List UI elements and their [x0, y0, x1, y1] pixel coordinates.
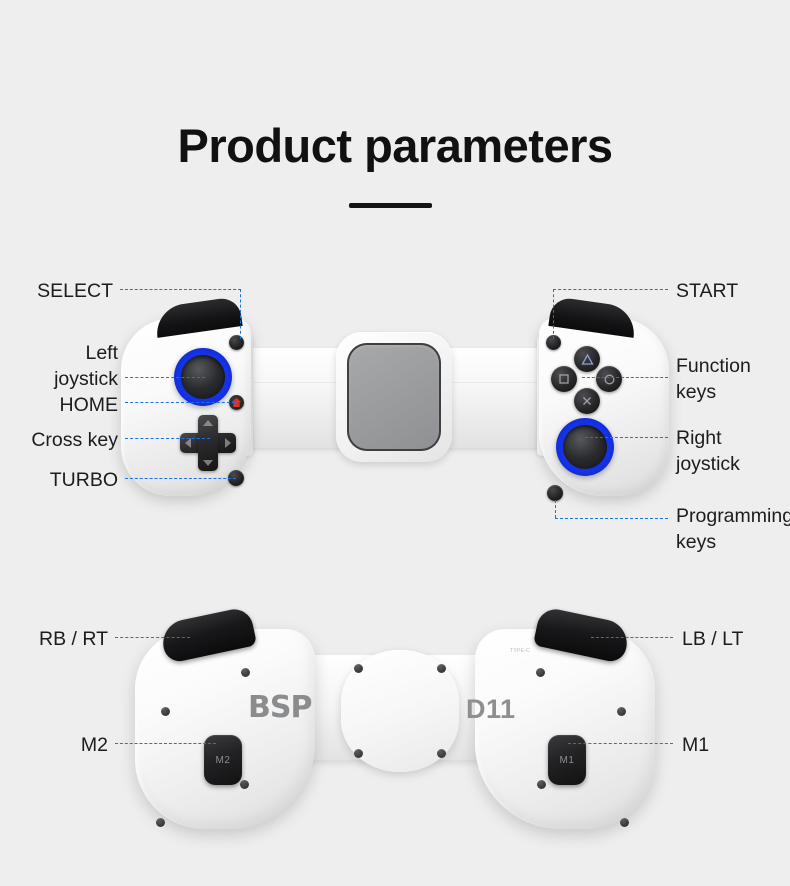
back-right-grip: [475, 629, 655, 829]
type-c-port-label: TYPE-C: [510, 648, 530, 654]
circle-button[interactable]: [596, 366, 622, 392]
leader-lb-lt: [591, 637, 673, 638]
back-screw-l1: [241, 668, 250, 677]
back-screw-r2: [617, 707, 626, 716]
label-m1: M1: [682, 732, 790, 758]
label-right-joystick: Right joystick: [676, 425, 790, 477]
label-m2: M2: [0, 732, 108, 758]
brand-logo: BSP: [248, 690, 311, 725]
m2-paddle-label: M2: [216, 755, 231, 766]
leader-cross-key: [125, 438, 210, 439]
leader-rb-rt: [115, 637, 190, 638]
bottom-controller-diagram: M2 M1: [0, 615, 790, 875]
leader-m2: [115, 743, 216, 744]
phone-clamp-pad: [347, 343, 441, 451]
leader-home: [125, 402, 235, 403]
circle-icon: [603, 373, 616, 386]
label-home: HOME: [0, 392, 118, 418]
dpad-up-arrow-icon: [203, 420, 213, 426]
screw-top-right: [437, 664, 446, 673]
cross-key-dpad[interactable]: [180, 415, 236, 471]
back-screw-r1: [536, 668, 545, 677]
cross-button[interactable]: [574, 388, 600, 414]
dpad-down-arrow-icon: [203, 460, 213, 466]
back-screw-r4: [620, 818, 629, 827]
label-programming-keys: Programming keys: [676, 503, 790, 555]
label-select: SELECT: [0, 278, 113, 304]
leader-right-joystick: [585, 437, 668, 438]
label-left-joystick: Left joystick: [0, 340, 118, 392]
label-turbo: TURBO: [0, 467, 118, 493]
triangle-button[interactable]: [574, 346, 600, 372]
phone-clamp-holder: [336, 332, 452, 462]
dpad-left-arrow-icon: [185, 438, 191, 448]
back-screw-l2: [161, 707, 170, 716]
label-lb-lt: LB / LT: [682, 626, 790, 652]
leader-turbo: [125, 478, 236, 479]
leader-left-joystick: [125, 377, 205, 378]
title-underline-accent: [349, 203, 432, 208]
label-function-keys: Function keys: [676, 353, 790, 405]
back-screw-r3: [537, 780, 546, 789]
leader-function-keys: [582, 377, 668, 378]
leader-select-vertical: [240, 289, 241, 339]
screw-bottom-right: [437, 749, 446, 758]
leader-programming-horizontal: [555, 518, 668, 519]
programming-key-button[interactable]: [547, 485, 563, 501]
leader-start-horizontal: [553, 289, 668, 290]
label-rb-rt: RB / RT: [0, 626, 108, 652]
m1-paddle-label: M1: [560, 755, 575, 766]
back-screw-l3: [240, 780, 249, 789]
dpad-right-arrow-icon: [225, 438, 231, 448]
right-joystick[interactable]: [556, 418, 614, 476]
model-name: D11: [466, 694, 516, 725]
square-button[interactable]: [551, 366, 577, 392]
label-cross-key: Cross key: [0, 427, 118, 453]
cross-icon: [581, 395, 593, 407]
back-left-grip: [135, 629, 315, 829]
page-title: Product parameters: [0, 118, 790, 173]
square-icon: [558, 373, 570, 385]
leader-programming-vertical: [555, 500, 556, 518]
back-center-plate: [341, 650, 459, 772]
screw-top-left: [354, 664, 363, 673]
top-controller-diagram: [0, 300, 790, 540]
select-button[interactable]: [229, 335, 244, 350]
leader-start-vertical: [553, 289, 554, 339]
screw-bottom-left: [354, 749, 363, 758]
leader-select-horizontal: [120, 289, 241, 290]
triangle-icon: [581, 353, 594, 366]
label-start: START: [676, 278, 790, 304]
product-parameters-page: Product parameters: [0, 0, 790, 886]
leader-m1: [568, 743, 673, 744]
back-screw-l4: [156, 818, 165, 827]
